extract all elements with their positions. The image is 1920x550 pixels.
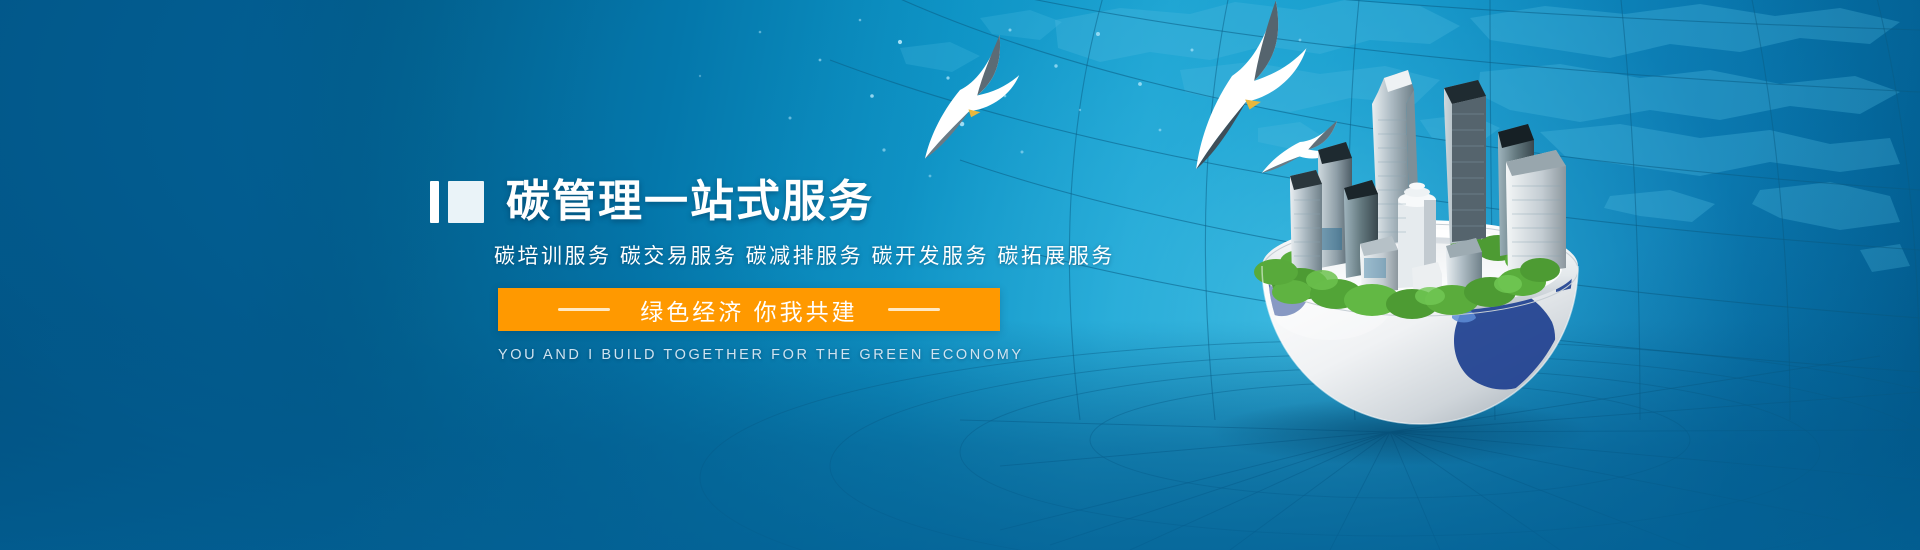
page-title: 碳管理一站式服务 — [506, 180, 874, 224]
title-row: 碳管理一站式服务 — [430, 180, 874, 224]
slogan-rule-right — [888, 308, 940, 311]
slogan-text: 绿色经济 你我共建 — [640, 293, 857, 327]
logo-mark-icon — [430, 181, 484, 223]
banner-content: 碳管理一站式服务 碳培训服务 碳交易服务 碳减排服务 碳开发服务 碳拓展服务 绿… — [0, 0, 1920, 550]
slogan-banner: 绿色经济 你我共建 — [498, 288, 1000, 331]
service-list: 碳培训服务 碳交易服务 碳减排服务 碳开发服务 碳拓展服务 — [494, 240, 1115, 270]
promo-banner: 碳管理一站式服务 碳培训服务 碳交易服务 碳减排服务 碳开发服务 碳拓展服务 绿… — [0, 0, 1920, 550]
slogan-rule-left — [558, 308, 610, 311]
english-tagline: YOU AND I BUILD TOGETHER FOR THE GREEN E… — [498, 347, 1000, 363]
logo-square-shape — [448, 181, 484, 223]
logo-bar-shape — [430, 181, 439, 223]
